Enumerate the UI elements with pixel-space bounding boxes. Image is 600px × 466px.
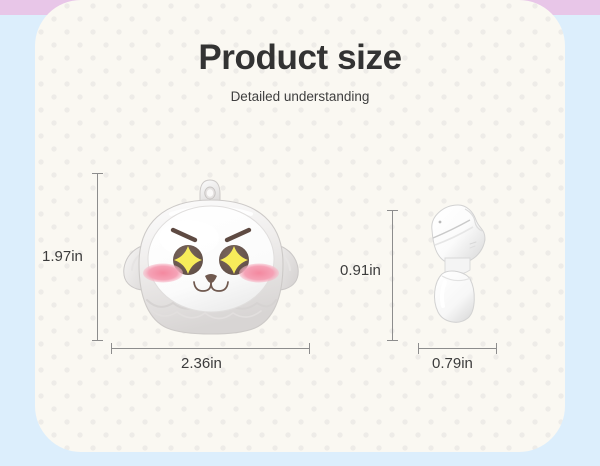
dimension-cap [111,343,112,354]
case-width-label: 2.36in [181,355,222,372]
earbud-height-label: 0.91in [340,262,381,279]
case-height-label: 1.97in [42,248,83,265]
earbud-width-dimension-line [418,348,497,349]
dimension-cap [387,340,398,341]
dimension-cap [418,343,419,354]
page-subtitle: Detailed understanding [0,89,600,104]
lamb-character-case-icon [111,172,311,342]
dimension-cap [92,340,103,341]
earbud-icon [418,200,498,340]
page-title: Product size [0,38,600,78]
earbud-width-label: 0.79in [432,355,473,372]
dimension-cap [496,343,497,354]
earbud-illustration [418,200,498,340]
case-height-dimension-line [97,173,98,341]
charging-case-illustration [111,172,311,342]
dimension-cap [387,210,398,211]
dimension-cap [92,173,103,174]
earbud-height-dimension-line [392,210,393,341]
page-background: Product size Detailed understanding [0,0,600,466]
case-width-dimension-line [111,348,310,349]
dimension-cap [309,343,310,354]
